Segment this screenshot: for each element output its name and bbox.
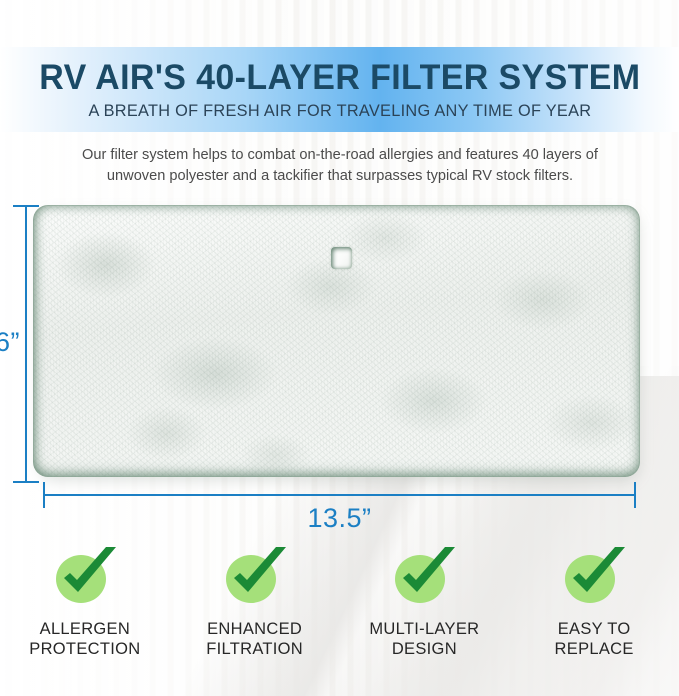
feature-label: MULTI-LAYER DESIGN <box>369 619 479 660</box>
height-dimension-label: 6” <box>0 327 20 358</box>
feature-item-allergen-protection: ALLERGEN PROTECTION <box>0 545 170 660</box>
height-dimension-cap-bottom <box>13 481 39 483</box>
feature-list: ALLERGEN PROTECTION ENHANCED FILTRATION … <box>0 545 679 660</box>
page-subtitle: A BREATH OF FRESH AIR FOR TRAVELING ANY … <box>88 102 591 119</box>
width-dimension-label: 13.5” <box>0 503 679 534</box>
feature-item-enhanced-filtration: ENHANCED FILTRATION <box>170 545 340 660</box>
check-icon <box>387 545 461 607</box>
header-banner: RV AIR'S 40-LAYER FILTER SYSTEM A BREATH… <box>0 47 679 132</box>
feature-item-multi-layer-design: MULTI-LAYER DESIGN <box>340 545 510 660</box>
check-icon <box>218 545 292 607</box>
check-icon <box>48 545 122 607</box>
feature-label: ENHANCED FILTRATION <box>206 619 303 660</box>
description-text: Our filter system helps to combat on-the… <box>62 145 618 188</box>
filter-edge-tint <box>33 205 640 477</box>
width-dimension-line <box>43 494 636 496</box>
product-image <box>33 205 642 482</box>
height-dimension-line <box>25 205 27 483</box>
feature-label: EASY TO REPLACE <box>555 619 634 660</box>
filter-notch-cutout <box>331 247 352 269</box>
infographic-page: RV AIR'S 40-LAYER FILTER SYSTEM A BREATH… <box>0 0 679 696</box>
page-title: RV AIR'S 40-LAYER FILTER SYSTEM <box>39 60 640 95</box>
feature-item-easy-to-replace: EASY TO REPLACE <box>509 545 679 660</box>
height-dimension-cap-top <box>13 205 39 207</box>
feature-label: ALLERGEN PROTECTION <box>29 619 140 660</box>
check-icon <box>557 545 631 607</box>
filter-panel <box>33 205 640 477</box>
